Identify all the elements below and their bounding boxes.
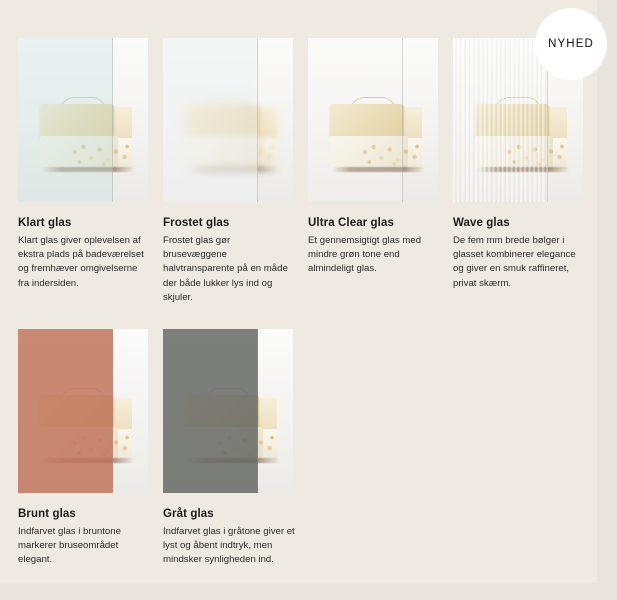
glass-card-photo — [163, 38, 293, 202]
glass-card-title: Wave glas — [453, 217, 585, 229]
soap-shadow — [187, 458, 279, 463]
glass-options-row-1: Klart glas Klart glas giver oplevelsen a… — [18, 38, 598, 305]
soap-shadow — [42, 458, 134, 463]
soap-stack-image — [40, 104, 132, 176]
glass-card-ultra-clear-glas[interactable]: Ultra Clear glas Et gennemsigtigt glas m… — [308, 38, 453, 305]
glass-options-grid: Klart glas Klart glas giver oplevelsen a… — [18, 38, 598, 568]
glass-card-description: Klart glas giver oplevelsen af ekstra pl… — [18, 234, 150, 291]
glass-card-description: De fem mm brede bølger i glasset kombine… — [453, 234, 585, 291]
soap-oat-texture — [360, 142, 422, 167]
glass-card-title: Frostet glas — [163, 217, 295, 229]
glass-card-description: Indfarvet glas i gråtone giver et lyst o… — [163, 525, 295, 568]
glass-card-description: Et gennemsigtigt glas med mindre grøn to… — [308, 234, 440, 277]
soap-stack-image — [185, 395, 277, 467]
glass-card-title: Brunt glas — [18, 508, 150, 520]
soap-stack-image — [40, 395, 132, 467]
soap-oat-texture — [505, 142, 567, 167]
soap-stack-image — [475, 104, 567, 176]
glass-card-brunt-glas[interactable]: Brunt glas Indfarvet glas i bruntone mar… — [18, 329, 163, 568]
glass-card-description: Indfarvet glas i bruntone markerer bruse… — [18, 525, 150, 568]
soap-stack-image — [185, 104, 277, 176]
soap-bar-top — [475, 104, 549, 138]
soap-shadow — [42, 167, 134, 172]
soap-oat-texture — [215, 142, 277, 167]
glass-card-photo — [18, 329, 148, 493]
glass-card-description: Frostet glas gør brusevæggene halvtransp… — [163, 234, 295, 305]
glass-card-title: Ultra Clear glas — [308, 217, 440, 229]
soap-bar-top — [40, 395, 114, 429]
glass-card-klart-glas[interactable]: Klart glas Klart glas giver oplevelsen a… — [18, 38, 163, 305]
soap-oat-texture — [215, 433, 277, 458]
soap-bar-top — [185, 395, 259, 429]
soap-bar-top — [185, 104, 259, 138]
glass-options-row-2: Brunt glas Indfarvet glas i bruntone mar… — [18, 329, 598, 568]
soap-shadow — [332, 167, 424, 172]
soap-oat-texture — [70, 433, 132, 458]
glass-card-photo — [308, 38, 438, 202]
nyhed-badge-label: NYHED — [548, 38, 594, 50]
soap-oat-texture — [70, 142, 132, 167]
glass-card-graat-glas[interactable]: Gråt glas Indfarvet glas i gråtone giver… — [163, 329, 308, 568]
nyhed-badge: NYHED — [535, 8, 607, 80]
soap-stack-image — [330, 104, 422, 176]
glass-card-photo — [163, 329, 293, 493]
glass-card-photo — [18, 38, 148, 202]
glass-card-frostet-glas[interactable]: Frostet glas Frostet glas gør brusevægge… — [163, 38, 308, 305]
glass-card-title: Gråt glas — [163, 508, 295, 520]
soap-bar-top — [330, 104, 404, 138]
soap-shadow — [187, 167, 279, 172]
soap-shadow — [477, 167, 569, 172]
soap-bar-top — [40, 104, 114, 138]
glass-card-title: Klart glas — [18, 217, 150, 229]
